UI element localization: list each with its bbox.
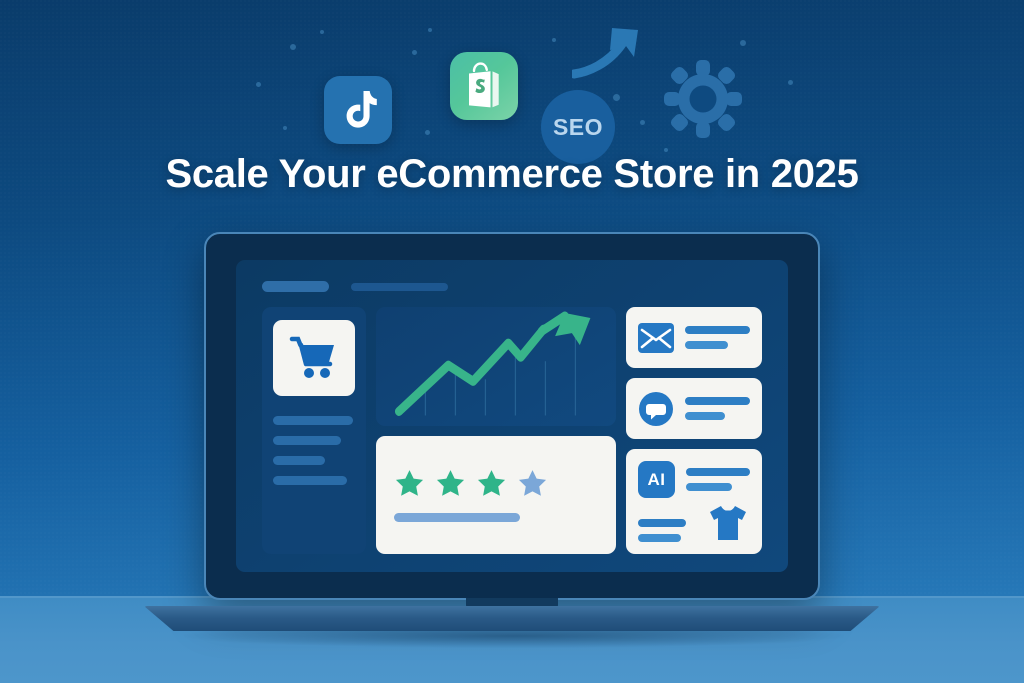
growth-arrow-icon bbox=[572, 22, 654, 90]
rating-caption-bar bbox=[394, 513, 520, 522]
shopping-cart-icon bbox=[289, 335, 339, 381]
laptop-mockup: AI bbox=[204, 232, 820, 602]
text-line bbox=[685, 412, 725, 420]
chat-widget-card[interactable] bbox=[626, 378, 762, 439]
star-rating[interactable] bbox=[394, 468, 598, 499]
email-widget-lines bbox=[685, 326, 750, 349]
laptop-base bbox=[144, 606, 880, 631]
header-bar-secondary bbox=[351, 283, 448, 291]
text-line bbox=[686, 468, 750, 476]
dashboard-header bbox=[262, 281, 448, 292]
ai-widget-lines bbox=[686, 468, 750, 491]
star-icon-filled bbox=[394, 468, 425, 499]
shopping-cart-card[interactable] bbox=[273, 320, 355, 396]
text-line bbox=[686, 483, 732, 491]
sidebar-item-1[interactable] bbox=[273, 416, 353, 425]
page-title: Scale Your eCommerce Store in 2025 bbox=[0, 152, 1024, 197]
chat-widget-lines bbox=[685, 397, 750, 420]
gear-icon[interactable] bbox=[662, 58, 744, 140]
widget-rail: AI bbox=[626, 307, 762, 554]
laptop-screen: AI bbox=[236, 260, 788, 572]
text-line bbox=[685, 341, 728, 349]
poster-canvas: SEO bbox=[0, 0, 1024, 683]
dashboard-sidebar bbox=[262, 307, 366, 554]
chat-bubble-icon bbox=[638, 391, 674, 427]
star-icon-filled bbox=[435, 468, 466, 499]
star-icon-filled bbox=[476, 468, 507, 499]
sidebar-item-4[interactable] bbox=[273, 476, 347, 485]
trending-up-arrow-icon bbox=[376, 307, 616, 426]
ai-widget-footer bbox=[638, 504, 750, 542]
seo-badge-label: SEO bbox=[553, 114, 603, 141]
text-line bbox=[638, 534, 681, 542]
ai-product-widget-card[interactable]: AI bbox=[626, 449, 762, 554]
sidebar-item-3[interactable] bbox=[273, 456, 325, 465]
sidebar-item-2[interactable] bbox=[273, 436, 341, 445]
text-line bbox=[685, 397, 750, 405]
laptop-lid: AI bbox=[204, 232, 820, 600]
sidebar-nav-list bbox=[273, 416, 355, 485]
shopify-icon[interactable] bbox=[450, 52, 518, 120]
dashboard-grid: AI bbox=[262, 307, 762, 554]
rating-card[interactable] bbox=[376, 436, 616, 555]
star-icon-empty bbox=[517, 468, 548, 499]
ai-widget-header: AI bbox=[638, 461, 750, 498]
header-bar-primary bbox=[262, 281, 329, 292]
text-line bbox=[685, 326, 750, 334]
tshirt-icon bbox=[706, 504, 750, 542]
product-lines bbox=[638, 519, 686, 542]
growth-chart-panel[interactable] bbox=[376, 307, 616, 426]
email-widget-card[interactable] bbox=[626, 307, 762, 368]
text-line bbox=[638, 519, 686, 527]
envelope-icon bbox=[638, 323, 674, 353]
tiktok-icon[interactable] bbox=[324, 76, 392, 144]
ai-badge-icon: AI bbox=[638, 461, 675, 498]
